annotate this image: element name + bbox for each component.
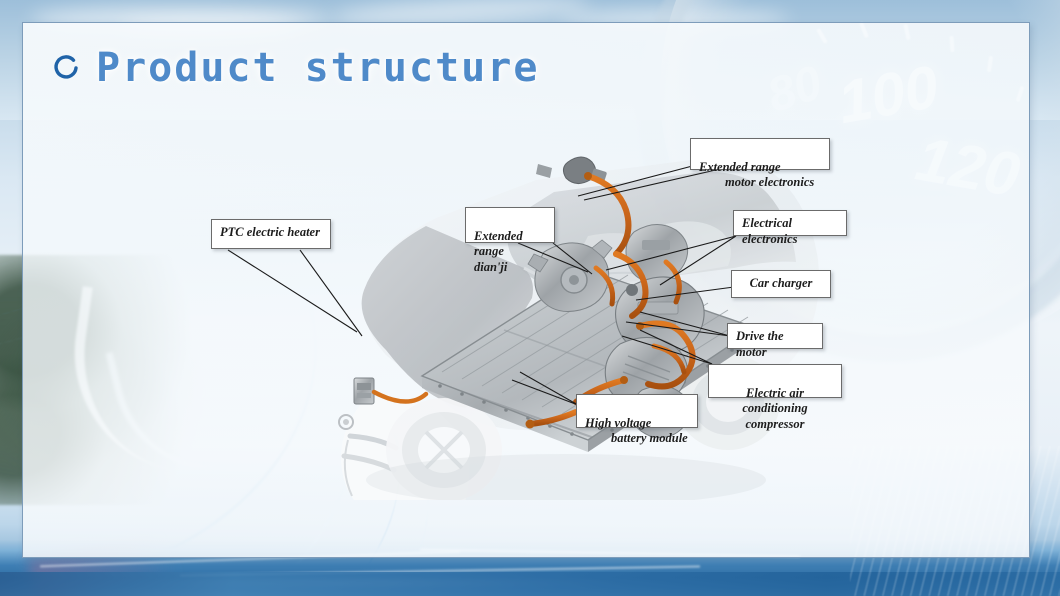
callout-electric-air-conditioning-compressor[interactable]: Electric air conditioning compressor xyxy=(708,364,842,398)
callout-car-charger[interactable]: Car charger xyxy=(731,270,831,298)
callout-drive-the-motor[interactable]: Drive the motor xyxy=(727,323,823,349)
callout-line-2: compressor xyxy=(745,417,804,431)
callout-line-2: battery module xyxy=(585,431,689,447)
open-ring-icon xyxy=(52,53,82,83)
callout-extended-range-motor-electronics[interactable]: Extended range motor electronics xyxy=(690,138,830,170)
slide-canvas: 80 100 120 Product structure xyxy=(0,0,1060,596)
callout-electrical-electronics[interactable]: Electrical electronics xyxy=(733,210,847,236)
callout-line-1: Electric air conditioning xyxy=(742,386,807,416)
callout-line-1: High voltage xyxy=(585,416,651,430)
callout-extended-range-dianji[interactable]: Extended range dian'ji xyxy=(465,207,555,243)
page-title-row: Product structure xyxy=(52,48,539,88)
page-title: Product structure xyxy=(96,48,539,88)
callout-high-voltage-battery-module[interactable]: High voltage battery module xyxy=(576,394,698,428)
callout-ptc-electric-heater[interactable]: PTC electric heater xyxy=(211,219,331,249)
callout-line-2: dian'ji xyxy=(474,260,507,274)
callout-line-2: motor electronics xyxy=(699,175,821,191)
callout-line-1: Extended range xyxy=(699,160,781,174)
